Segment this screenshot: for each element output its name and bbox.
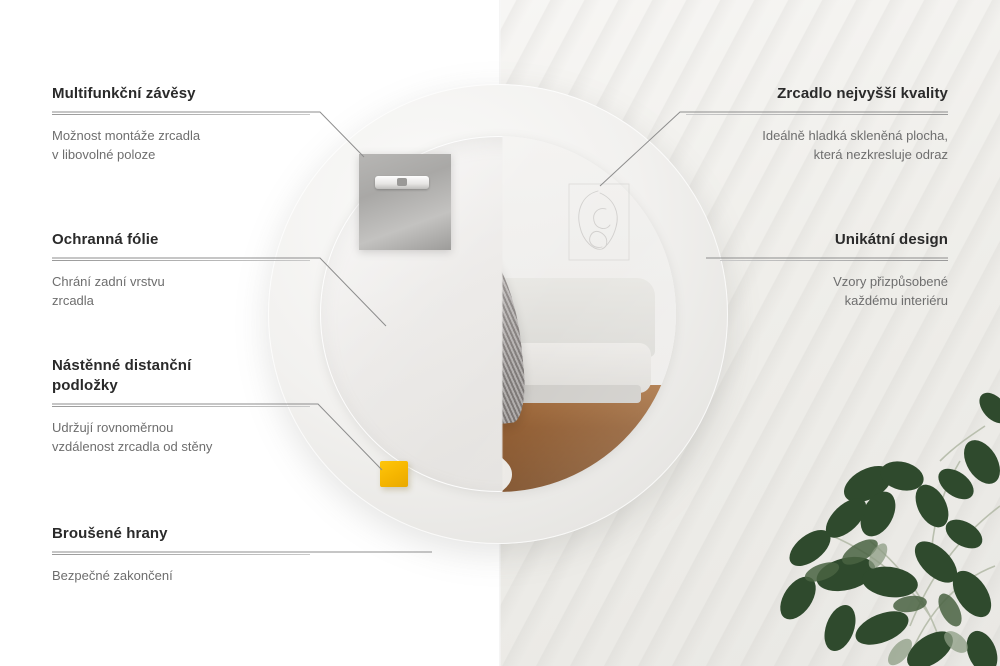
callout-nastenne-distancni-podlozky: Nástěnné distanční podložky Udržují rovn… — [52, 356, 310, 456]
callout-desc-line-2: každému interiéru — [720, 291, 948, 310]
callout-multifunkcni-zavesy: Multifunkční závěsy Možnost montáže zrca… — [52, 84, 310, 164]
green-leaf-branches — [750, 366, 1000, 666]
callout-description: Udržují rovnoměrnou vzdálenost zrcadla o… — [52, 418, 310, 456]
callout-desc-line-2: v libovolné poloze — [52, 145, 310, 164]
callout-description: Bezpečné zakončení — [52, 566, 310, 585]
callout-rule — [52, 554, 310, 555]
callout-desc-line-1: Ideálně hladká skleněná plocha, — [686, 126, 948, 145]
callout-zrcadlo-nejvyssi-kvality: Zrcadlo nejvyšší kvality Ideálně hladká … — [686, 84, 948, 164]
callout-desc-line-1: Udržují rovnoměrnou — [52, 418, 310, 437]
callout-title-line-1: Nástěnné distanční — [52, 356, 310, 376]
callout-ochranna-folie: Ochranná fólie Chrání zadní vrstvu zrcad… — [52, 230, 310, 310]
callout-desc-line-1: Bezpečné zakončení — [52, 566, 310, 585]
callout-desc-line-2: která nezkresluje odraz — [686, 145, 948, 164]
callout-description: Vzory přizpůsobené každému interiéru — [720, 272, 948, 310]
callout-title: Zrcadlo nejvyšší kvality — [686, 84, 948, 104]
product-feature-infographic: Multifunkční závěsy Možnost montáže zrca… — [0, 0, 1000, 666]
callout-unikatni-design: Unikátní design Vzory přizpůsobené každé… — [720, 230, 948, 310]
callout-title: Ochranná fólie — [52, 230, 310, 250]
callout-desc-line-1: Vzory přizpůsobené — [720, 272, 948, 291]
callout-desc-line-1: Možnost montáže zrcadla — [52, 126, 310, 145]
callout-desc-line-2: zrcadla — [52, 291, 310, 310]
callout-title: Multifunkční závěsy — [52, 84, 310, 104]
callout-rule — [720, 260, 948, 261]
callout-desc-line-2: vzdálenost zrcadla od stěny — [52, 437, 310, 456]
callout-description: Ideálně hladká skleněná plocha, která ne… — [686, 126, 948, 164]
callout-title-line-2: podložky — [52, 376, 310, 396]
callout-title: Unikátní design — [720, 230, 948, 250]
callout-rule — [686, 114, 948, 115]
callout-description: Chrání zadní vrstvu zrcadla — [52, 272, 310, 310]
callout-title: Nástěnné distanční podložky — [52, 356, 310, 396]
callout-rule — [52, 260, 310, 261]
callout-description: Možnost montáže zrcadla v libovolné polo… — [52, 126, 310, 164]
callout-rule — [52, 406, 310, 407]
callout-title: Broušené hrany — [52, 524, 310, 544]
callout-rule — [52, 114, 310, 115]
callout-desc-line-1: Chrání zadní vrstvu — [52, 272, 310, 291]
callout-brousene-hrany: Broušené hrany Bezpečné zakončení — [52, 524, 310, 585]
